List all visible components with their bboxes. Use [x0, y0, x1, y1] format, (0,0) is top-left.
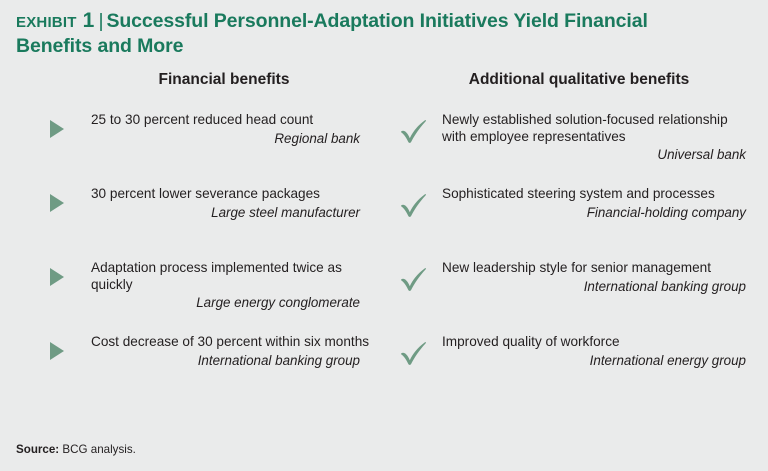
- column-qualitative-benefits: Additional qualitative benefits Newly es…: [398, 70, 750, 408]
- list-item: Improved quality of workforce Internatio…: [398, 334, 750, 408]
- page-title: Exhibit 1|Successful Personnel-Adaptatio…: [16, 8, 728, 59]
- exhibit-title-block: Exhibit 1|Successful Personnel-Adaptatio…: [16, 8, 728, 59]
- benefit-attribution: Large steel manufacturer: [91, 205, 370, 222]
- checkmark-icon: [398, 262, 432, 296]
- benefit-text: Cost decrease of 30 percent within six m…: [91, 334, 370, 351]
- benefit-attribution: Universal bank: [442, 147, 750, 164]
- list-item: Adaptation process implemented twice as …: [40, 260, 370, 334]
- benefit-text: 25 to 30 percent reduced head count: [91, 112, 370, 129]
- benefit-attribution: Large energy conglomerate: [91, 295, 370, 312]
- list-item: 25 to 30 percent reduced head count Regi…: [40, 112, 370, 186]
- triangle-right-icon: [40, 186, 74, 220]
- list-item-body: Newly established solution-focused relat…: [442, 112, 750, 164]
- list-item-body: Sophisticated steering system and proces…: [442, 186, 750, 221]
- exhibit-number-label: Exhibit 1: [16, 9, 95, 32]
- list-item: Cost decrease of 30 percent within six m…: [40, 334, 370, 408]
- benefit-text: Improved quality of workforce: [442, 334, 750, 351]
- list-item-body: New leadership style for senior manageme…: [442, 260, 750, 295]
- checkmark-icon: [398, 336, 432, 370]
- exhibit-figure: Exhibit 1|Successful Personnel-Adaptatio…: [0, 0, 768, 471]
- benefit-text: Adaptation process implemented twice as …: [91, 260, 370, 293]
- title-divider: |: [95, 10, 107, 32]
- benefit-attribution: Financial-holding company: [442, 205, 750, 222]
- exhibit-title-text: Successful Personnel-Adaptation Initiati…: [16, 10, 648, 57]
- triangle-right-icon: [40, 334, 74, 368]
- benefit-text: 30 percent lower severance packages: [91, 186, 370, 203]
- list-item: New leadership style for senior manageme…: [398, 260, 750, 334]
- list-item-body: Cost decrease of 30 percent within six m…: [91, 334, 370, 369]
- benefit-text: Newly established solution-focused relat…: [442, 112, 750, 145]
- list-item: Sophisticated steering system and proces…: [398, 186, 750, 260]
- list-item: Newly established solution-focused relat…: [398, 112, 750, 186]
- benefit-attribution: Regional bank: [91, 131, 370, 148]
- column-header-qualitative: Additional qualitative benefits: [398, 70, 750, 92]
- list-item-body: 25 to 30 percent reduced head count Regi…: [91, 112, 370, 147]
- benefit-text: Sophisticated steering system and proces…: [442, 186, 750, 203]
- list-item: 30 percent lower severance packages Larg…: [40, 186, 370, 260]
- column-header-financial: Financial benefits: [40, 70, 370, 92]
- benefit-attribution: International banking group: [442, 279, 750, 296]
- source-note: Source: BCG analysis.: [16, 443, 136, 457]
- benefit-attribution: International banking group: [91, 353, 370, 370]
- checkmark-icon: [398, 188, 432, 222]
- source-label: Source:: [16, 443, 59, 456]
- benefit-text: New leadership style for senior manageme…: [442, 260, 750, 277]
- list-item-body: 30 percent lower severance packages Larg…: [91, 186, 370, 221]
- benefit-attribution: International energy group: [442, 353, 750, 370]
- financial-benefits-list: 25 to 30 percent reduced head count Regi…: [40, 112, 370, 408]
- checkmark-icon: [398, 114, 432, 148]
- qualitative-benefits-list: Newly established solution-focused relat…: [398, 112, 750, 408]
- list-item-body: Improved quality of workforce Internatio…: [442, 334, 750, 369]
- triangle-right-icon: [40, 260, 74, 294]
- list-item-body: Adaptation process implemented twice as …: [91, 260, 370, 312]
- source-text: BCG analysis.: [62, 443, 135, 456]
- column-financial-benefits: Financial benefits 25 to 30 percent redu…: [40, 70, 370, 408]
- triangle-right-icon: [40, 112, 74, 146]
